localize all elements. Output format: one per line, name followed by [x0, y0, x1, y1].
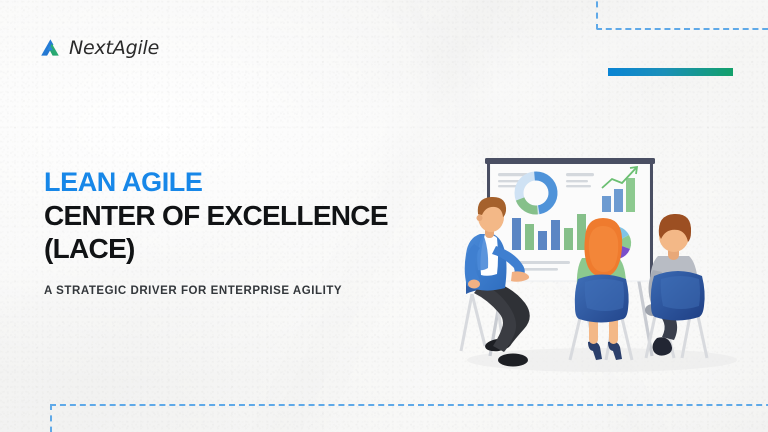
man-chair-highlight [661, 276, 700, 309]
brand-name: NextAgile [69, 37, 159, 59]
slide-canvas: NextAgile LEAN AGILE CENTER OF EXCELLENC… [0, 0, 768, 432]
headline-subtitle: A STRATEGIC DRIVER FOR ENTERPRISE AGILIT… [44, 285, 474, 297]
brand-logo[interactable]: NextAgile [38, 36, 159, 60]
team-presentation-illustration [452, 146, 752, 378]
headline-block: LEAN AGILE CENTER OF EXCELLENCE (LACE) A… [44, 168, 474, 297]
nextagile-arrow-mark-icon [38, 36, 62, 60]
dashed-corner-top-right [596, 0, 768, 30]
presenter-shoe-front [498, 354, 528, 367]
woman-chair-highlight [585, 279, 624, 311]
person-attendee-man [645, 214, 707, 358]
accent-gradient-bar [608, 68, 733, 76]
presenter-ear [477, 215, 483, 221]
whiteboard-frame-top [485, 158, 655, 164]
woman-hair-highlight [589, 226, 618, 272]
whiteboard-frame-right [650, 164, 653, 282]
page-title: CENTER OF EXCELLENCE (LACE) [44, 199, 444, 265]
dashed-corner-bottom-left [50, 404, 768, 432]
presenter-hand-left [468, 280, 480, 289]
headline-eyebrow: LEAN AGILE [44, 168, 474, 197]
